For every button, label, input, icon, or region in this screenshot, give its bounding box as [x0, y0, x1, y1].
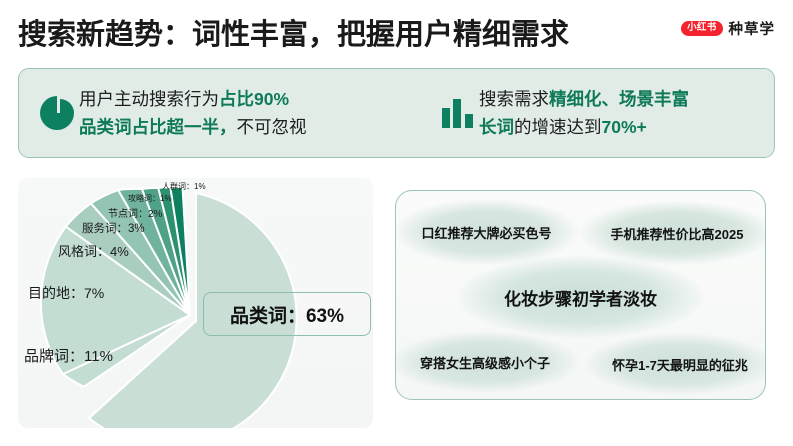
pie-label-风格词: 风格词：4% [58, 241, 129, 260]
stat2-line2-highlight2: 70%+ [602, 117, 647, 137]
page-title: 搜索新趋势：词性丰富，把握用户精细需求 [18, 11, 569, 53]
search-term-bubble-3[interactable]: 化妆步骤初学者淡妆 [458, 256, 703, 338]
search-term-text-1: 口红推荐大牌必买色号 [421, 223, 551, 242]
brand-logo: 小红书 种草学 [681, 18, 775, 39]
stat1-line2-plain: 不可忽视 [237, 117, 307, 137]
summary-banner: 用户主动搜索行为占比90% 品类词占比超一半，不可忽视 搜索需求精细化、场景丰富… [18, 68, 775, 158]
search-term-bubble-4[interactable]: 穿搭女生高级感小个子 [395, 331, 580, 393]
stat2-line2-highlight: 长词 [479, 117, 514, 137]
stat2-line2-plain: 的增速达到 [514, 117, 602, 137]
search-term-text-3: 化妆步骤初学者淡妆 [504, 285, 657, 310]
stat-text-search-demand: 搜索需求精细化、场景丰富 长词的增速达到70%+ [479, 85, 689, 141]
slide-root: 搜索新趋势：词性丰富，把握用户精细需求 小红书 种草学 用户主动搜索行为占比90… [0, 0, 793, 446]
search-terms-card: 口红推荐大牌必买色号 手机推荐性价比高2025 化妆步骤初学者淡妆 穿搭女生高级… [395, 190, 766, 400]
pie-chart-icon [35, 96, 79, 130]
header: 搜索新趋势：词性丰富，把握用户精细需求 小红书 种草学 [0, 0, 793, 62]
stat1-line2-highlight: 品类词占比超一半， [79, 117, 237, 137]
search-term-bubble-1[interactable]: 口红推荐大牌必买色号 [395, 199, 579, 265]
pie-label-节点词: 节点词：2% [108, 205, 162, 220]
pie-label-品牌词: 品牌词：11% [24, 345, 113, 366]
search-term-text-4: 穿搭女生高级感小个子 [420, 353, 550, 372]
stat-block-search-demand: 搜索需求精细化、场景丰富 长词的增速达到70%+ [415, 69, 774, 157]
search-term-bubble-5[interactable]: 怀孕1-7天最明显的征兆 [584, 333, 766, 395]
pie-label-攻略词: 攻略词：1% [128, 193, 172, 204]
search-term-text-5: 怀孕1-7天最明显的征兆 [612, 355, 748, 374]
pie-label-目的地: 目的地：7% [28, 283, 104, 303]
stat1-line1-plain: 用户主动搜索行为 [79, 89, 219, 109]
pie-label-服务词: 服务词：3% [82, 220, 145, 236]
stat2-line1-plain: 搜索需求 [479, 89, 549, 109]
pie-label-品类词: 品类词：63% [203, 292, 371, 336]
stat1-line1-highlight: 占比90% [219, 89, 289, 109]
search-term-bubble-2[interactable]: 手机推荐性价比高2025 [579, 201, 766, 265]
pie-label-人群词: 人群词：1% [162, 181, 206, 192]
stat-text-search-behavior: 用户主动搜索行为占比90% 品类词占比超一半，不可忽视 [79, 85, 307, 141]
stat2-line1-highlight: 精细化、场景丰富 [549, 89, 689, 109]
search-term-text-2: 手机推荐性价比高2025 [611, 224, 744, 243]
bar-chart-icon [435, 98, 479, 128]
stat-block-search-behavior: 用户主动搜索行为占比90% 品类词占比超一半，不可忽视 [19, 69, 415, 157]
brand-name: 种草学 [729, 18, 776, 39]
pie-label-品类词-text: 品类词：63% [230, 301, 344, 328]
xiaohongshu-badge-icon: 小红书 [681, 21, 722, 36]
